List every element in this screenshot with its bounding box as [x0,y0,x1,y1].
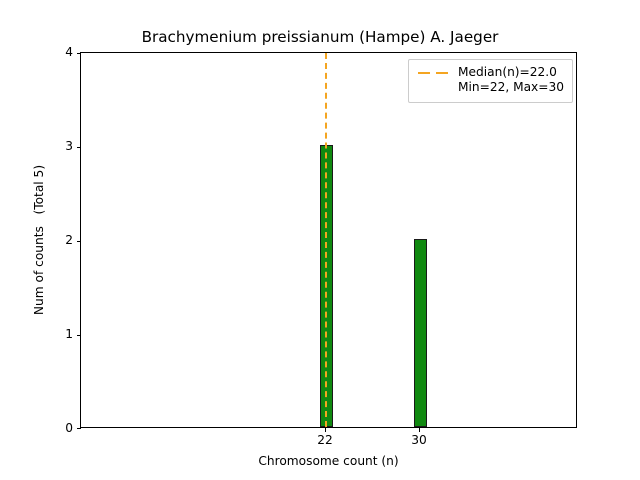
y-tick-mark-1 [77,335,81,336]
y-tick-label-4: 4 [33,46,73,58]
legend-label-minmax: Min=22, Max=30 [458,80,564,96]
y-tick-label-3: 3 [33,140,73,152]
page-title: Brachymenium preissianum (Hampe) A. Jaeg… [0,28,640,46]
chart-figure: Brachymenium preissianum (Hampe) A. Jaeg… [0,0,640,480]
y-tick-mark-4 [77,53,81,54]
x-axis-label: Chromosome count (n) [80,453,577,469]
legend: Median(n)=22.0 Min=22, Max=30 [408,59,573,103]
y-tick-label-2: 2 [33,234,73,246]
y-tick-label-0: 0 [33,422,73,434]
x-tick-mark-22 [325,428,326,432]
plot-area: Median(n)=22.0 Min=22, Max=30 [80,52,577,428]
legend-label-median: Median(n)=22.0 [458,65,564,81]
x-tick-label-22: 22 [295,433,355,447]
median-line [325,53,327,427]
legend-dashed-line-icon [417,65,451,82]
plot-inner: Median(n)=22.0 Min=22, Max=30 [81,53,576,427]
y-tick-label-1: 1 [33,328,73,340]
legend-entry-text: Median(n)=22.0 Min=22, Max=30 [458,65,564,96]
bar-30 [414,239,427,427]
y-tick-mark-0 [77,428,81,429]
y-tick-mark-2 [77,241,81,242]
y-tick-mark-3 [77,147,81,148]
x-tick-label-30: 30 [389,433,449,447]
x-tick-mark-30 [419,428,420,432]
